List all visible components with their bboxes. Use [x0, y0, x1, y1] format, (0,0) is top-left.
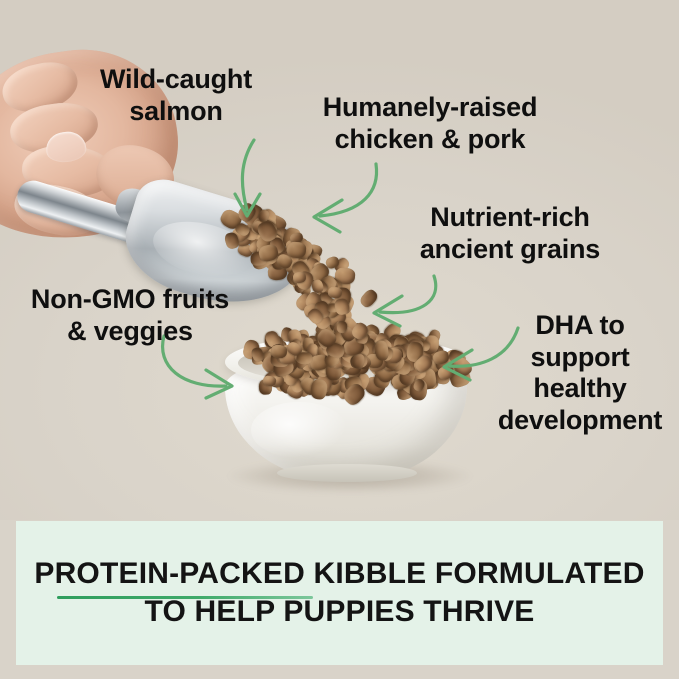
arrow-chicken — [298, 158, 394, 242]
headline-line-1: PROTEIN-PACKED KIBBLE FORMULATED — [16, 555, 663, 593]
label-line: & veggies — [8, 316, 252, 348]
kibble-piece — [296, 352, 313, 365]
label-line: DHA to — [494, 310, 666, 342]
label-line: Humanely-raised — [300, 92, 560, 124]
label-line: Nutrient-rich — [405, 202, 615, 234]
headline-text: PROTEIN-PACKED KIBBLE FORMULATED TO HELP… — [16, 555, 663, 630]
headline-banner: PROTEIN-PACKED KIBBLE FORMULATED TO HELP… — [16, 521, 663, 665]
label-line: Non-GMO fruits — [8, 284, 252, 316]
label-line: healthy — [494, 373, 666, 405]
label-non-gmo-fruits-veggies: Non-GMO fruits & veggies — [8, 284, 252, 347]
headline-underline — [57, 596, 313, 599]
product-feature-graphic: Wild-caught salmon Humanely-raised chick… — [0, 0, 679, 679]
label-humanely-raised-chicken-pork: Humanely-raised chicken & pork — [300, 92, 560, 155]
label-line: ancient grains — [405, 234, 615, 266]
kibble-piece — [286, 241, 306, 258]
label-line: chicken & pork — [300, 124, 560, 156]
arrow-salmon — [214, 136, 284, 228]
label-wild-caught-salmon: Wild-caught salmon — [68, 64, 284, 127]
label-dha-healthy-development: DHA to support healthy development — [494, 310, 666, 436]
label-line: support — [494, 342, 666, 374]
label-line: salmon — [68, 96, 284, 128]
product-photo: Wild-caught salmon Humanely-raised chick… — [0, 0, 679, 520]
label-line: development — [494, 405, 666, 437]
label-nutrient-rich-ancient-grains: Nutrient-rich ancient grains — [405, 202, 615, 265]
label-line: Wild-caught — [68, 64, 284, 96]
